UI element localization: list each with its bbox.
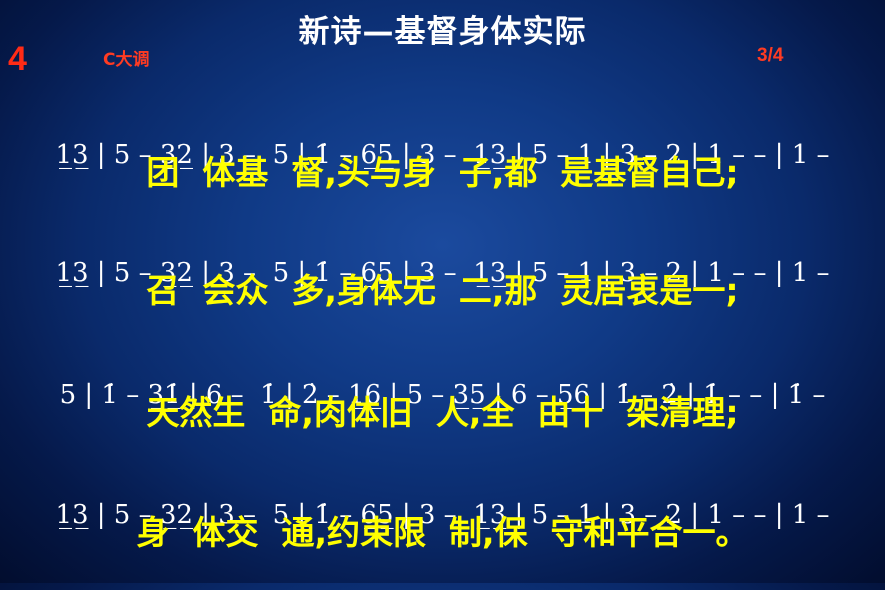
notation-line: 1̲3̲ | 5 – 3̲2̲ | 3 – 5 | 1̇ – 6̲5̲ | 3 …	[0, 228, 885, 262]
stanza-2: 1̲3̲ | 5 – 3̲2̲ | 3 – 5 | 1̇ – 6̲5̲ | 3 …	[0, 228, 885, 262]
notation-line: 1̲3̲ | 5 – 3̲2̲ | 3 – 5 | 1̇ – 6̲5̲ | 3 …	[0, 470, 885, 504]
lyrics-text: 天然生 命,肉体旧 人,全 由十 架清理;	[0, 386, 885, 428]
hymn-number: 4	[8, 40, 27, 79]
lyrics-text: 身 体交 通,约束限 制,保 守和平合一。	[0, 506, 885, 548]
stanza-1: 1̲3̲ | 5 – 3̲2̲ | 3 – 5 | 1̇ – 6̲5̲ | 3 …	[0, 110, 885, 144]
notation-line: 1̲3̲ | 5 – 3̲2̲ | 3 – 5 | 1̇ – 6̲5̲ | 3 …	[0, 110, 885, 144]
stanza-4: 1̲3̲ | 5 – 3̲2̲ | 3 – 5 | 1̇ – 6̲5̲ | 3 …	[0, 470, 885, 504]
lyrics-text: 团 体基 督,头与身 子,都 是基督自己;	[0, 146, 885, 188]
key-signature-label: C大调	[103, 45, 149, 70]
notation-line: 5 | 1̇ – 3̲1̲̇ | 6 – 1̇ | 2̇ – 1̲6̲ | 5 …	[0, 350, 885, 384]
time-signature-label: 3/4	[757, 45, 783, 67]
stanza-3: 5 | 1̇ – 3̲1̲̇ | 6 – 1̇ | 2̇ – 1̲6̲ | 5 …	[0, 350, 885, 384]
lyrics-text: 召 会众 多,身体无 二,那 灵居衷是一;	[0, 264, 885, 306]
